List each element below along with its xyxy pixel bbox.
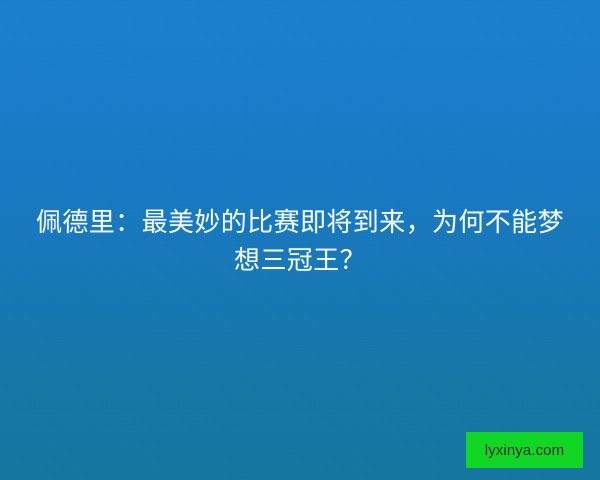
headline-text: 佩德里：最美妙的比赛即将到来，为何不能梦想三冠王？ [28,203,572,279]
watermark-label: lyxinya.com [485,443,564,458]
image-canvas: 佩德里：最美妙的比赛即将到来，为何不能梦想三冠王？ lyxinya.com [0,0,600,480]
watermark-badge: lyxinya.com [466,432,583,468]
